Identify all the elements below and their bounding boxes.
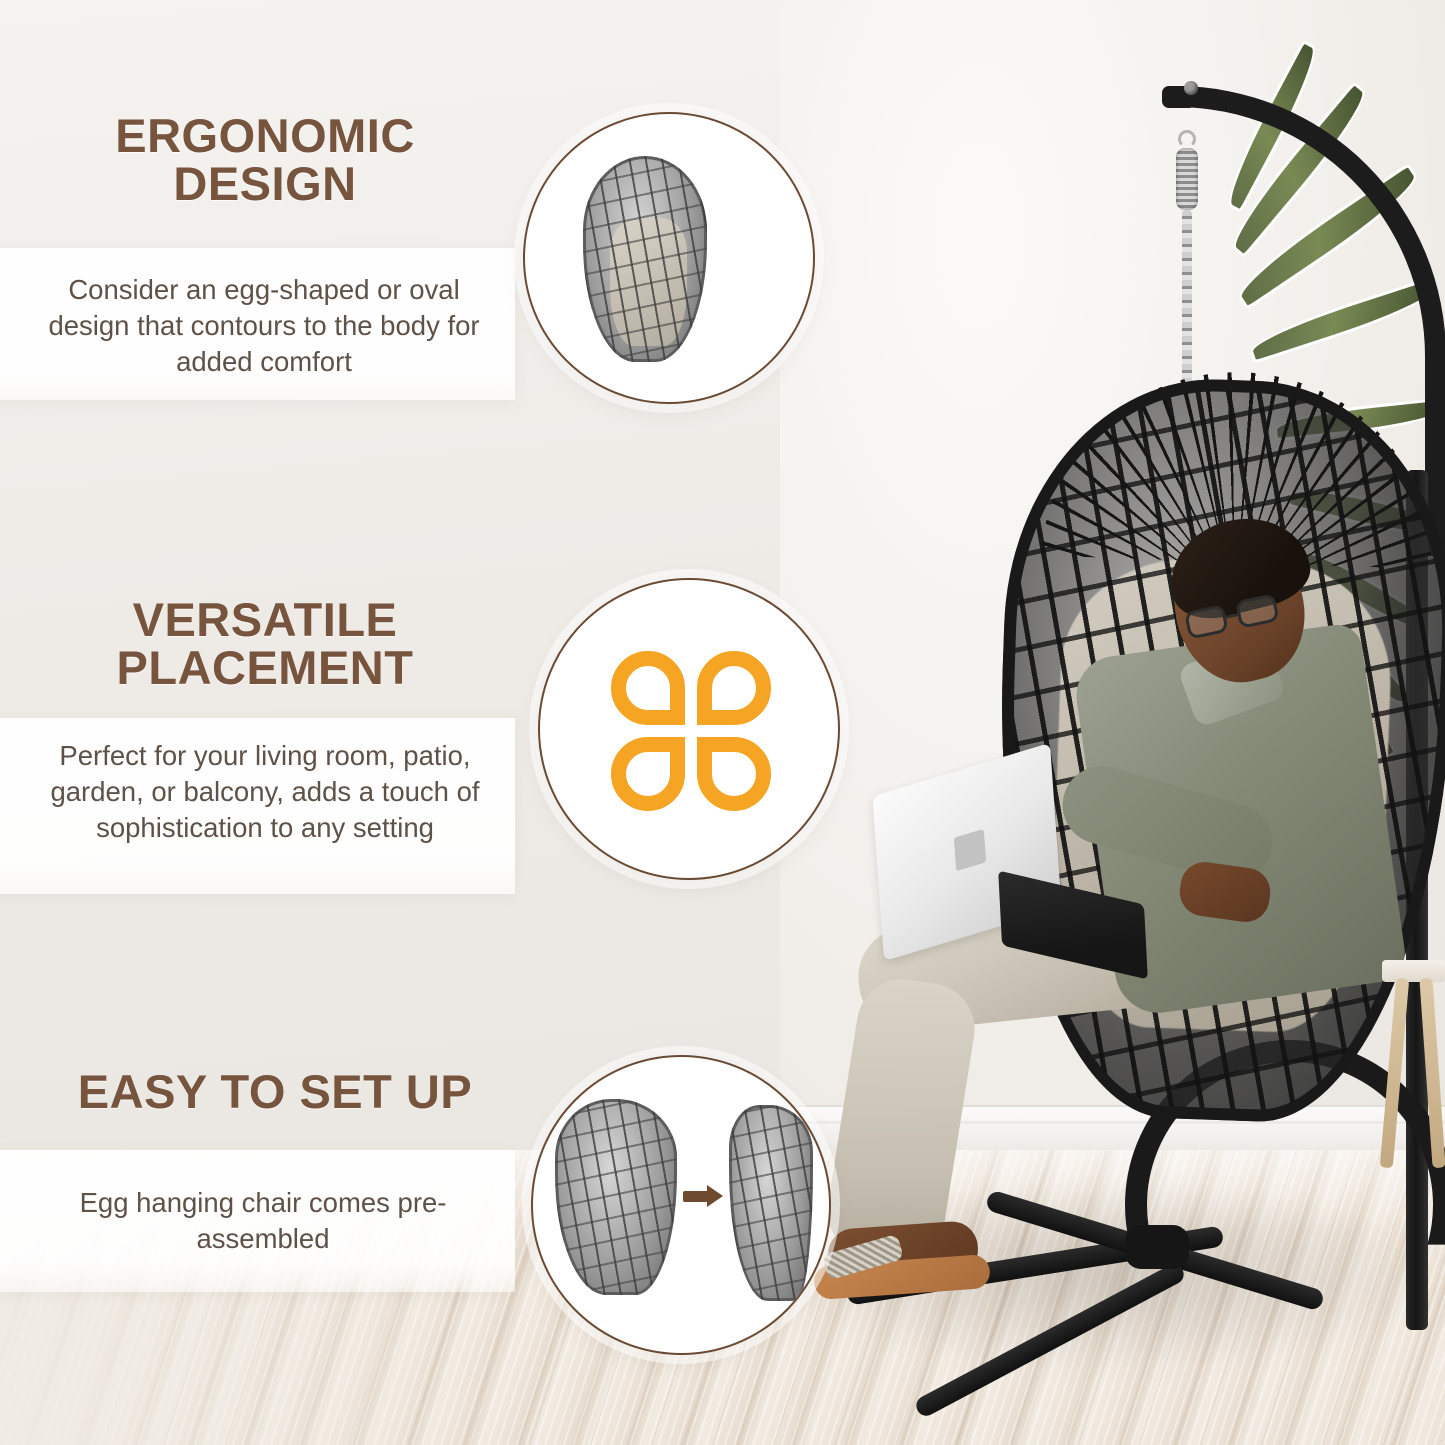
chair-frame-assembled-icon <box>555 1099 677 1295</box>
four-petal-clover-icon <box>611 651 771 811</box>
feature-heading-ergonomic-design: ERGONOMIC DESIGN <box>50 112 480 208</box>
feature-heading-easy-to-set-up: EASY TO SET UP <box>50 1068 500 1116</box>
feature-body-ergonomic-design: Consider an egg-shaped or oval design th… <box>38 272 490 379</box>
heading-line-2: DESIGN <box>50 160 480 208</box>
side-table <box>1382 960 1445 1170</box>
heading-line-2: PLACEMENT <box>50 644 480 692</box>
heading-line-1: VERSATILE <box>50 596 480 644</box>
right-arrow-icon <box>683 1185 729 1207</box>
stand-leg-hub <box>1125 1225 1189 1269</box>
infographic-canvas: ERGONOMIC DESIGN Consider an egg-shaped … <box>0 0 1445 1445</box>
seated-person <box>1000 520 1380 1140</box>
hook-icon <box>1178 130 1196 148</box>
chain-icon <box>1182 210 1192 385</box>
spring-icon <box>1176 148 1198 210</box>
feature-body-easy-to-set-up: Egg hanging chair comes pre-assembled <box>48 1185 478 1257</box>
stand-bolt-icon <box>1184 81 1198 95</box>
chair-frame-folded-icon <box>729 1105 813 1301</box>
feature-heading-versatile-placement: VERSATILE PLACEMENT <box>50 596 480 692</box>
badge-ergonomic-design-icon <box>525 114 813 402</box>
heading-line-1: EASY TO SET UP <box>50 1068 500 1116</box>
feature-badge-versatile-placement[interactable] <box>538 578 840 880</box>
feature-body-versatile-placement: Perfect for your living room, patio, gar… <box>34 738 496 845</box>
badge-versatile-placement-icon <box>540 580 838 878</box>
feature-badge-ergonomic-design[interactable] <box>523 112 815 404</box>
badge-easy-to-set-up-icon <box>533 1057 829 1353</box>
feature-badge-easy-to-set-up[interactable] <box>531 1055 831 1355</box>
heading-line-1: ERGONOMIC <box>50 112 480 160</box>
